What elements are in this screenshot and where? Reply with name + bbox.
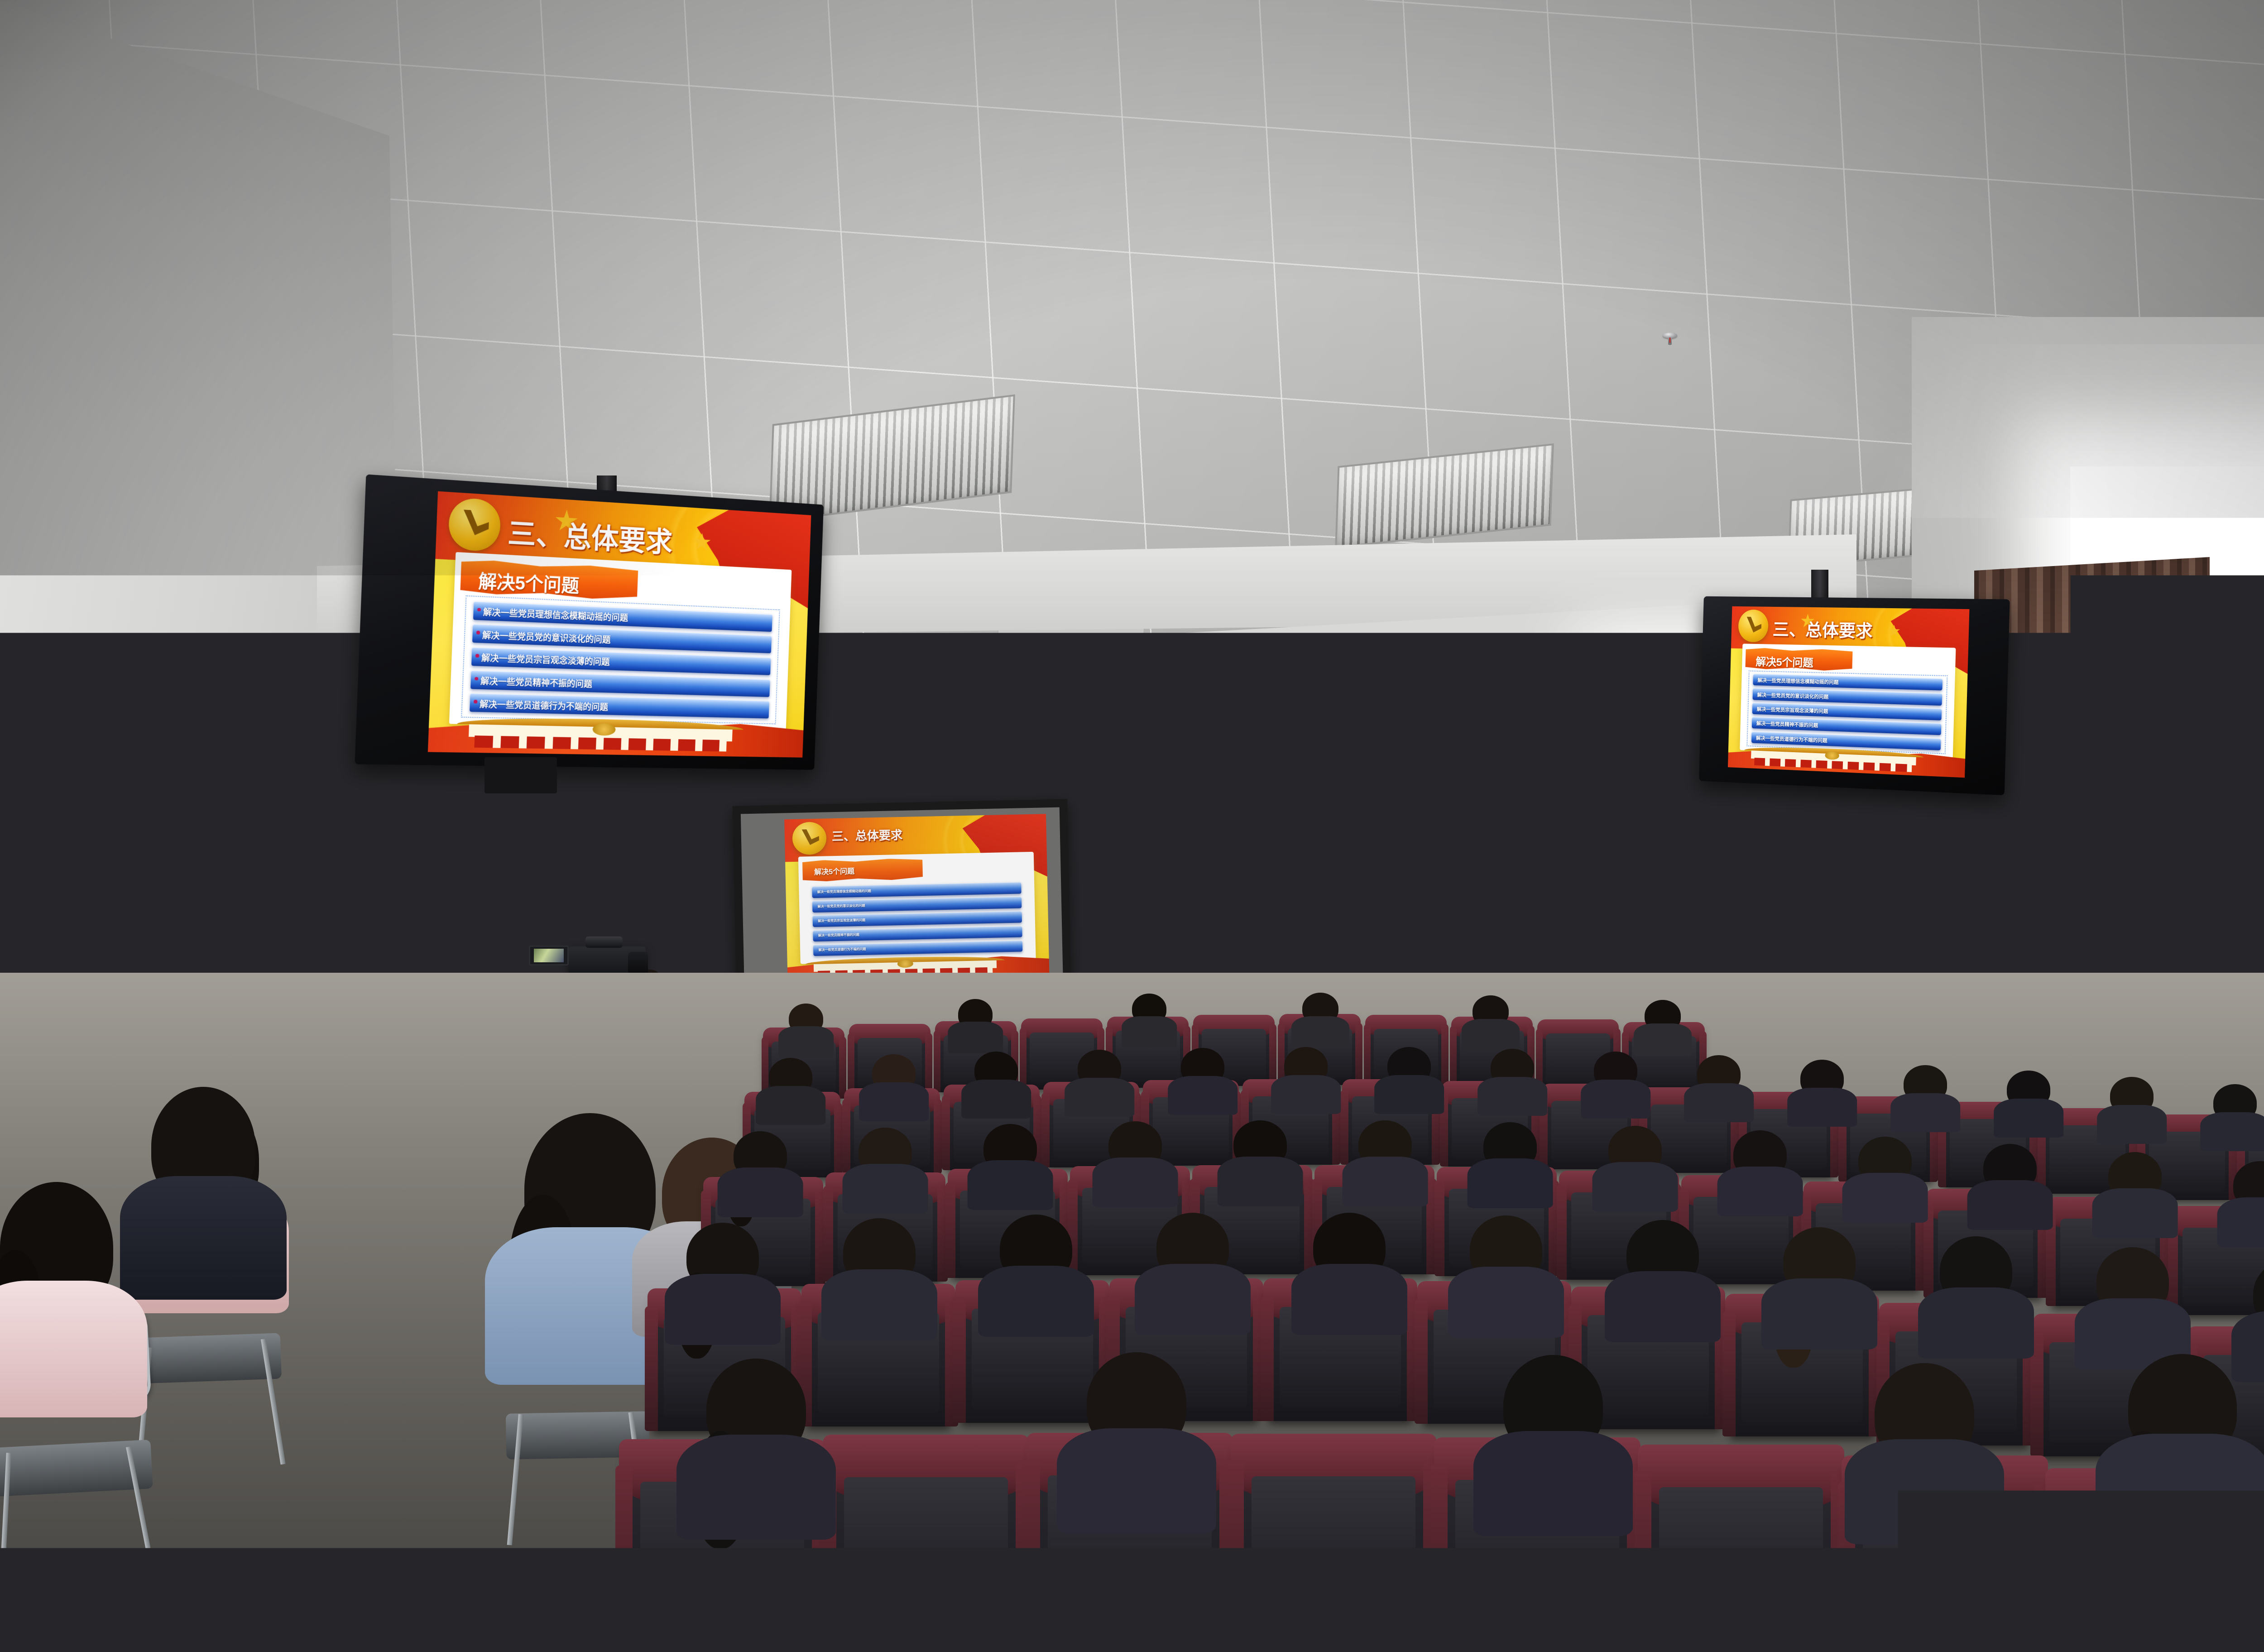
- attendee: [2213, 1084, 2257, 1151]
- attendee: [1000, 1215, 1072, 1337]
- attendee-torso: [120, 1176, 287, 1300]
- slide-left: 三、总体要求 解决5个问题 解决一些党员理想信念模糊动摇的问题 解决一些党员党的…: [428, 491, 811, 758]
- attendee: [706, 1359, 806, 1540]
- slide-projected: 三、总体要求 解决5个问题 解决一些党员理想信念模糊动摇的问题 解决一些党员党的…: [784, 814, 1049, 982]
- attendee: [769, 1058, 812, 1125]
- attendee: [686, 1223, 759, 1345]
- attendee: [1733, 1130, 1787, 1216]
- attendee: [1387, 1047, 1431, 1114]
- tv-left-bracket: [484, 757, 557, 793]
- bullet-dot-icon: [477, 608, 481, 611]
- lecture-hall-photo: 请勿吸烟 NO SMOKING 三、总体要求 解决5个问题 解决一些党员理想信念…: [0, 0, 2264, 1652]
- attendee: [1626, 1220, 1699, 1342]
- attendee: [0, 1182, 113, 1417]
- bullet-dot-icon: [476, 631, 480, 634]
- attendee: [1087, 1352, 1186, 1533]
- attendee: [1783, 1227, 1856, 1349]
- tv-left-panel: 三、总体要求 解决5个问题 解决一些党员理想信念模糊动摇的问题 解决一些党员党的…: [428, 491, 811, 758]
- attendee: [1284, 1047, 1328, 1114]
- attendee: [1983, 1144, 2037, 1230]
- projected-slide: 三、总体要求 解决5个问题 解决一些党员理想信念模糊动摇的问题 解决一些党员党的…: [784, 814, 1049, 982]
- attendee: [151, 1087, 255, 1300]
- auditorium-seat: [1236, 1444, 1431, 1647]
- slide-title: 三、总体要求: [1772, 616, 1873, 642]
- attendee: [2110, 1077, 2154, 1144]
- attendee: [1302, 993, 1338, 1049]
- attendee: [1233, 1120, 1287, 1206]
- attendee: [789, 1004, 823, 1058]
- attendee: [1491, 1049, 1534, 1116]
- slide-bullet-label: 解决一些党员精神不振的问题: [818, 932, 859, 938]
- attendee: [1470, 1215, 1542, 1338]
- attendee: [859, 1128, 912, 1214]
- attendee: [1608, 1126, 1662, 1212]
- attendee: [1645, 1000, 1681, 1056]
- attendee: [1132, 994, 1166, 1048]
- attendee: [2096, 1247, 2169, 1369]
- attendee: [958, 999, 993, 1053]
- attendee: [1594, 1052, 1637, 1119]
- attendee: [1940, 1236, 2012, 1359]
- attendee: [1904, 1065, 1947, 1132]
- attendee: [2233, 1161, 2264, 1247]
- attendee: [1697, 1055, 1741, 1122]
- attendee: [1503, 1355, 1603, 1536]
- bullet-dot-icon: [474, 700, 477, 703]
- bullet-dot-icon: [475, 654, 479, 658]
- sprinkler-icon: [1663, 332, 1677, 348]
- speaker-icon: [1339, 759, 1423, 812]
- slide-banner-label: 解决5个问题: [1756, 653, 1813, 669]
- attendee: [2128, 1354, 2237, 1544]
- attendee-torso: [0, 1281, 147, 1417]
- attendee: [1473, 995, 1509, 1052]
- bullet-dot-icon: [475, 677, 478, 680]
- attendee: [983, 1124, 1037, 1210]
- attendee: [843, 1218, 916, 1340]
- auditorium-seat: [1644, 1455, 1838, 1652]
- attendee: [1108, 1121, 1162, 1207]
- slide-banner-label: 解决5个问题: [814, 865, 854, 877]
- tv-right-panel: 三、总体要求 解决5个问题 解决一些党员理想信念模糊动摇的问题 解决一些党员党的…: [1728, 606, 1970, 778]
- attendee: [1875, 1363, 1974, 1544]
- attendee: [1858, 1137, 1912, 1223]
- attendee: [872, 1054, 916, 1121]
- attendee: [1181, 1048, 1224, 1115]
- attendee: [974, 1052, 1018, 1119]
- slide-title: 三、总体要求: [832, 826, 903, 844]
- attendee: [2007, 1071, 2050, 1138]
- attendee: [2253, 1260, 2264, 1382]
- attendee: [2108, 1152, 2162, 1238]
- attendee: [1313, 1213, 1386, 1335]
- slide-banner-label: 解决5个问题: [478, 567, 580, 598]
- tiananmen-graphic: [456, 716, 743, 752]
- camera-lens-icon: [628, 952, 648, 975]
- slide-right: 三、总体要求 解决5个问题 解决一些党员理想信念模糊动摇的问题 解决一些党员党的…: [1728, 606, 1970, 778]
- camera-microphone-icon: [585, 936, 623, 948]
- attendee: [1800, 1060, 1844, 1127]
- tv-left: 三、总体要求 解决5个问题 解决一些党员理想信念模糊动摇的问题 解决一些党员党的…: [355, 474, 824, 770]
- attendee: [734, 1131, 787, 1217]
- attendee: [1156, 1213, 1229, 1335]
- attendee: [1358, 1120, 1412, 1206]
- camera-lcd-screen: [529, 946, 569, 965]
- projector-icon: [1010, 736, 1102, 776]
- attendee: [1078, 1050, 1121, 1117]
- auditorium-seat: [829, 1445, 1023, 1648]
- tv-right: 三、总体要求 解决5个问题 解决一些党员理想信念模糊动摇的问题 解决一些党员党的…: [1699, 596, 2010, 795]
- projection-surface: 三、总体要求 解决5个问题 解决一些党员理想信念模糊动摇的问题 解决一些党员党的…: [741, 807, 1063, 997]
- attendee: [1483, 1122, 1537, 1208]
